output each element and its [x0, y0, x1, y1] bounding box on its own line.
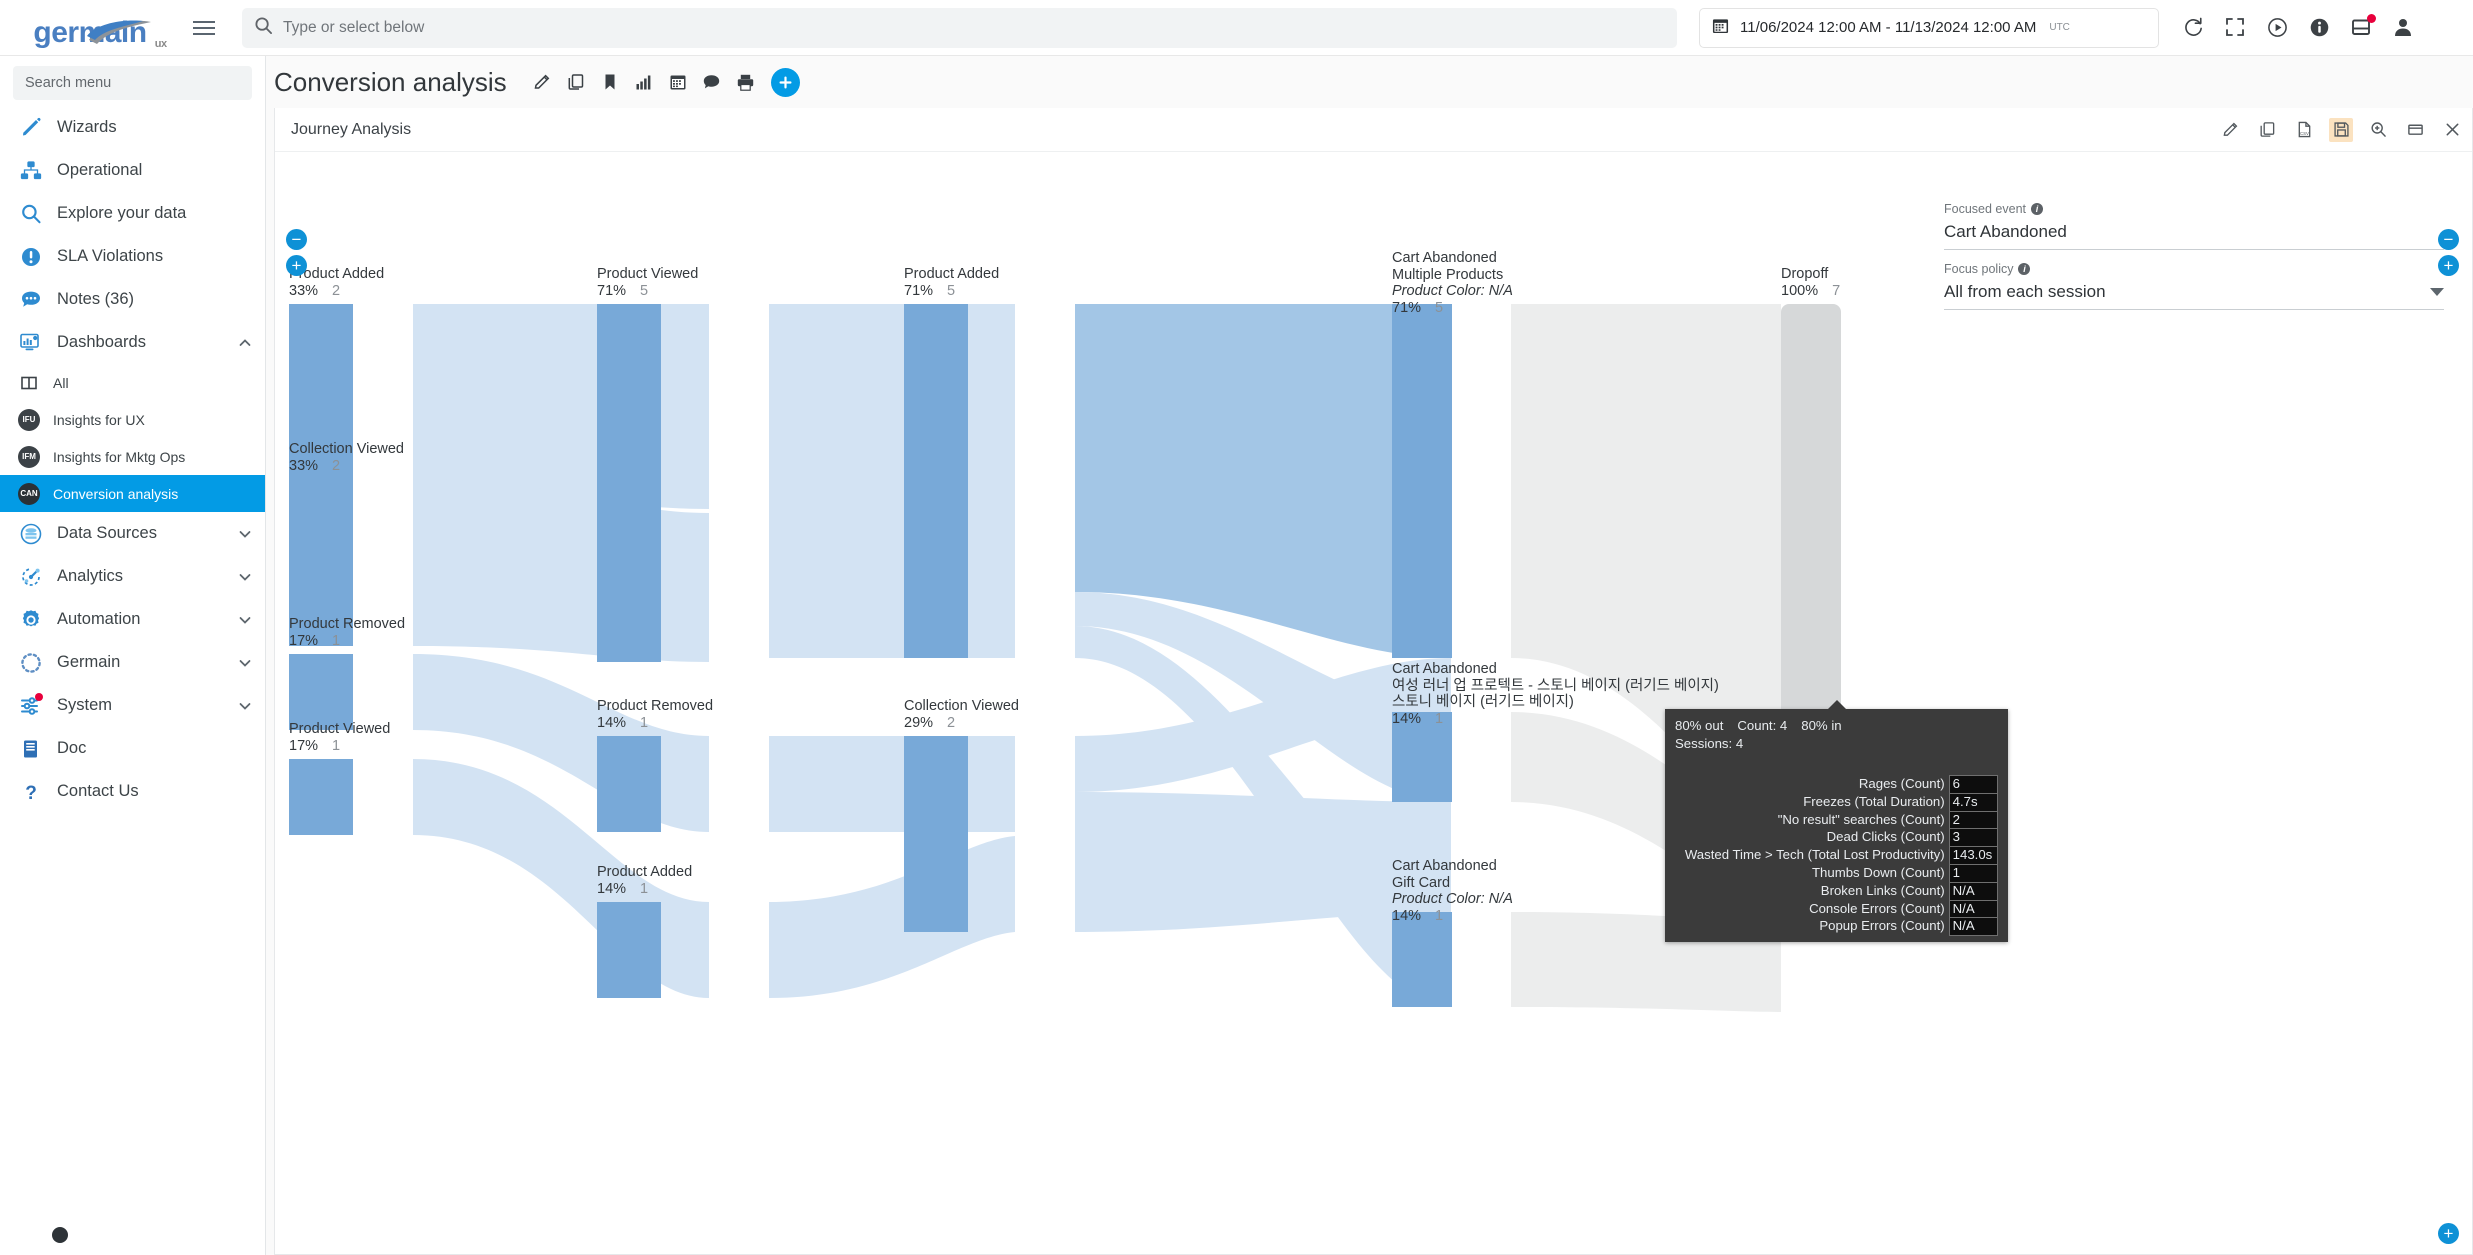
focused-event-label-row: Focused event i [1944, 202, 2444, 216]
chevron-down-icon[interactable] [238, 527, 252, 541]
focus-policy-group: Focus policy i All from each session [1944, 262, 2444, 310]
info-icon[interactable] [2309, 17, 2331, 39]
sidebar-item-all[interactable]: All [0, 364, 265, 401]
panel-title: Journey Analysis [291, 121, 2218, 139]
pencil-icon [18, 115, 44, 141]
panel-header: Journey Analysis [275, 108, 2472, 152]
node-collection-viewed-c2 [904, 736, 968, 932]
add-widget-button[interactable] [771, 68, 800, 97]
node-product-removed-c0 [289, 654, 353, 730]
zoom-in-button-bottom[interactable]: + [2438, 1223, 2459, 1244]
zoom-controls-left: − + [286, 229, 307, 276]
bookmark-icon[interactable] [593, 65, 627, 99]
tooltip-in: 80% in [1801, 718, 1841, 733]
chevron-down-icon[interactable] [238, 613, 252, 627]
sidebar-item-label: SLA Violations [57, 247, 252, 266]
sidebar-item-label: Wizards [57, 118, 252, 137]
info-icon[interactable]: i [2018, 263, 2030, 275]
main-content: Conversion analysis [266, 56, 2473, 1255]
sidebar-item-automation[interactable]: Automation [0, 598, 265, 641]
save-icon[interactable] [2329, 118, 2353, 142]
metric-value: 2 [1949, 811, 1997, 829]
sidebar-item-label: Automation [57, 610, 225, 629]
export-csv-icon[interactable]: CSV [2292, 118, 2316, 142]
magnifier-icon [18, 201, 44, 227]
metric-value: N/A [1949, 882, 1997, 900]
system-alert-dot [35, 693, 43, 701]
table-row: "No result" searches (Count) 2 [1675, 811, 1998, 829]
zoom-out-button[interactable]: − [286, 229, 307, 250]
table-row: Broken Links (Count) N/A [1675, 882, 1998, 900]
sidebar-item-label: Contact Us [57, 782, 252, 801]
sidebar-item-contact-us[interactable]: ? Contact Us [0, 770, 265, 813]
dashboard-badge: IFU [18, 409, 40, 431]
sidebar-item-germain[interactable]: Germain [0, 641, 265, 684]
dashboard-badge: CAN [18, 483, 40, 505]
sidebar-item-doc[interactable]: Doc [0, 727, 265, 770]
copy-icon[interactable] [2255, 118, 2279, 142]
page-header: Conversion analysis [266, 56, 2473, 108]
metric-label: Wasted Time > Tech (Total Lost Productiv… [1675, 847, 1949, 865]
search-icon [254, 16, 273, 40]
sidebar-item-explore-your-data[interactable]: Explore your data [0, 192, 265, 235]
panel-actions: CSV [2218, 118, 2464, 142]
zoom-in-button[interactable]: + [286, 255, 307, 276]
sidebar-subitem-label: All [53, 375, 69, 391]
metric-label: Console Errors (Count) [1675, 900, 1949, 918]
zoom-in-button[interactable]: + [2438, 255, 2459, 276]
chevron-down-icon[interactable] [238, 699, 252, 713]
tooltip-header: 80% outCount: 480% in [1675, 717, 1998, 735]
fullscreen-icon[interactable] [2225, 17, 2247, 39]
focus-policy-label-row: Focus policy i [1944, 262, 2444, 276]
calendar-icon[interactable] [661, 65, 695, 99]
sidebar-item-label: Dashboards [57, 333, 225, 352]
svg-text:CSV: CSV [2300, 131, 2309, 136]
copy-icon[interactable] [559, 65, 593, 99]
sidebar-search-input[interactable]: Search menu [13, 66, 252, 100]
global-search[interactable]: Type or select below [242, 8, 1677, 48]
table-row: Wasted Time > Tech (Total Lost Productiv… [1675, 847, 1998, 865]
node-product-removed-c1 [597, 736, 661, 832]
sidebar-item-label: Data Sources [57, 524, 225, 543]
metric-value: N/A [1949, 918, 1997, 936]
metric-value: 3 [1949, 829, 1997, 847]
node-product-viewed-c1 [597, 304, 661, 662]
info-icon[interactable]: i [2031, 203, 2043, 215]
chevron-down-icon[interactable] [238, 656, 252, 670]
node-product-added-c1 [597, 902, 661, 998]
sidebar-item-analytics[interactable]: Analytics [0, 555, 265, 598]
org-chart-icon [18, 158, 44, 184]
columns-icon [18, 372, 40, 394]
node-cart-abandoned-korean [1392, 712, 1452, 802]
dotted-circle-icon [18, 650, 44, 676]
window-icon[interactable] [2403, 118, 2427, 142]
sidebar-subitem-label: Insights for Mktg Ops [53, 449, 185, 465]
metric-label: Popup Errors (Count) [1675, 918, 1949, 936]
sidebar-item-label: Doc [57, 739, 252, 758]
sidebar-item-sla-violations[interactable]: SLA Violations [0, 235, 265, 278]
metric-label: "No result" searches (Count) [1675, 811, 1949, 829]
sidebar-item-label: Operational [57, 161, 252, 180]
metric-value: N/A [1949, 900, 1997, 918]
sidebar-item-conversion-analysis[interactable]: CAN Conversion analysis [0, 475, 265, 512]
metric-label: Thumbs Down (Count) [1675, 864, 1949, 882]
metric-label: Freezes (Total Duration) [1675, 793, 1949, 811]
inbox-icon[interactable] [2351, 17, 2373, 39]
tooltip-out: 80% out [1675, 718, 1723, 733]
question-mark-icon: ? [18, 779, 44, 805]
sankey-link-tooltip: 80% outCount: 480% in Sessions: 4 Rages … [1665, 709, 2008, 942]
node-cart-abandoned-gift-card [1392, 912, 1452, 1007]
metric-value: 6 [1949, 776, 1997, 794]
zoom-in-icon[interactable] [2366, 118, 2390, 142]
metric-value: 1 [1949, 864, 1997, 882]
svg-text:?: ? [25, 783, 37, 803]
date-range-picker[interactable]: 11/06/2024 12:00 AM - 11/13/2024 12:00 A… [1699, 8, 2159, 48]
sidebar-item-label: Analytics [57, 567, 225, 586]
top-bar: germain ux Type or select below [0, 0, 2473, 56]
sidebar-item-dashboards[interactable]: Dashboards [0, 321, 265, 364]
alert-circle-icon [18, 244, 44, 270]
comment-icon[interactable] [695, 65, 729, 99]
bar-chart-icon[interactable] [627, 65, 661, 99]
search-input-placeholder: Type or select below [283, 19, 424, 37]
support-bubble-icon[interactable] [52, 1227, 68, 1243]
focus-policy-label: Focus policy [1944, 262, 2013, 276]
zoom-controls-right-bottom: + [2438, 1223, 2459, 1244]
node-cart-abandoned-multiple [1392, 304, 1452, 658]
tooltip-arrow [1828, 700, 1846, 709]
top-bar-actions [2183, 17, 2415, 39]
sidebar-item-insights-for-mktg-ops[interactable]: IFM Insights for Mktg Ops [0, 438, 265, 475]
sidebar-item-label: Germain [57, 653, 225, 672]
sidebar-item-operational[interactable]: Operational [0, 149, 265, 192]
application-window: germain ux Type or select below [0, 0, 2473, 1255]
sidebar-item-insights-for-ux[interactable]: IFU Insights for UX [0, 401, 265, 438]
sidebar-item-label: Notes (36) [57, 290, 252, 309]
date-range-value: 11/06/2024 12:00 AM - 11/13/2024 12:00 A… [1740, 19, 2036, 36]
table-row: Freezes (Total Duration) 4.7s [1675, 793, 1998, 811]
edit-icon[interactable] [525, 65, 559, 99]
table-row: Popup Errors (Count) N/A [1675, 918, 1998, 936]
focused-event-label: Focused event [1944, 202, 2026, 216]
node-collection-viewed-c0 [289, 479, 353, 646]
node-product-added-c0 [289, 304, 353, 490]
sliders-icon [18, 693, 44, 719]
sankey-diagram[interactable]: − + − + + [275, 152, 2472, 1254]
database-icon [18, 521, 44, 547]
brand-swoosh-icon [85, 20, 155, 46]
brand-logo[interactable]: germain ux [0, 0, 180, 56]
sidebar-item-data-sources[interactable]: Data Sources [0, 512, 265, 555]
focus-policy-value: All from each session [1944, 282, 2106, 302]
metric-value: 4.7s [1949, 793, 1997, 811]
book-icon [18, 736, 44, 762]
sidebar-subitem-label: Conversion analysis [53, 486, 178, 502]
calendar-icon [1712, 17, 1729, 39]
focus-settings: Focused event i Cart Abandoned Focus pol… [1944, 202, 2444, 322]
timezone-label: UTC [2049, 22, 2070, 33]
sidebar-subitem-label: Insights for UX [53, 412, 145, 428]
notification-badge [2367, 14, 2376, 23]
refresh-icon[interactable] [2183, 17, 2205, 39]
dashboard-badge: IFM [18, 446, 40, 468]
focus-policy-select[interactable]: All from each session [1944, 276, 2444, 310]
page-title: Conversion analysis [274, 67, 507, 98]
node-product-added-c2 [904, 304, 968, 658]
node-product-viewed-c0 [289, 759, 353, 835]
table-row: Thumbs Down (Count) 1 [1675, 864, 1998, 882]
sidebar-item-label: System [57, 696, 225, 715]
sidebar: Search menu Wizards Operational [0, 56, 266, 1255]
focused-event-input[interactable]: Cart Abandoned [1944, 216, 2444, 250]
table-row: Rages (Count) 6 [1675, 776, 1998, 794]
analytics-icon [18, 564, 44, 590]
journey-analysis-panel: Journey Analysis [274, 108, 2473, 1255]
metric-label: Broken Links (Count) [1675, 882, 1949, 900]
gear-icon [18, 607, 44, 633]
metric-label: Rages (Count) [1675, 776, 1949, 794]
sidebar-item-notes[interactable]: Notes (36) [0, 278, 265, 321]
table-row: Dead Clicks (Count) 3 [1675, 829, 1998, 847]
chevron-up-icon[interactable] [238, 336, 252, 350]
chevron-down-icon[interactable] [238, 570, 252, 584]
metric-value: 143.0s [1949, 847, 1997, 865]
dashboard-monitor-icon [18, 330, 44, 356]
sidebar-search-placeholder: Search menu [25, 75, 111, 91]
play-icon[interactable] [2267, 17, 2289, 39]
user-avatar-icon[interactable] [2393, 17, 2415, 39]
tooltip-metrics-table: Rages (Count) 6 Freezes (Total Duration)… [1675, 775, 1998, 936]
metric-label: Dead Clicks (Count) [1675, 829, 1949, 847]
sidebar-item-label: Explore your data [57, 204, 252, 223]
chevron-down-icon [2430, 282, 2444, 302]
zoom-controls-right: − + [2438, 229, 2459, 276]
menu-toggle-button[interactable] [180, 0, 228, 56]
focused-event-group: Focused event i Cart Abandoned [1944, 202, 2444, 250]
print-icon[interactable] [729, 65, 763, 99]
comment-icon [18, 287, 44, 313]
brand-subtitle: ux [155, 39, 167, 50]
sidebar-item-system[interactable]: System [0, 684, 265, 727]
zoom-out-button[interactable]: − [2438, 229, 2459, 250]
close-icon[interactable] [2440, 118, 2464, 142]
tooltip-sessions: Sessions: 4 [1675, 735, 1998, 753]
sidebar-item-wizards[interactable]: Wizards [0, 106, 265, 149]
tooltip-count: Count: 4 [1737, 718, 1787, 733]
edit-icon[interactable] [2218, 118, 2242, 142]
table-row: Console Errors (Count) N/A [1675, 900, 1998, 918]
